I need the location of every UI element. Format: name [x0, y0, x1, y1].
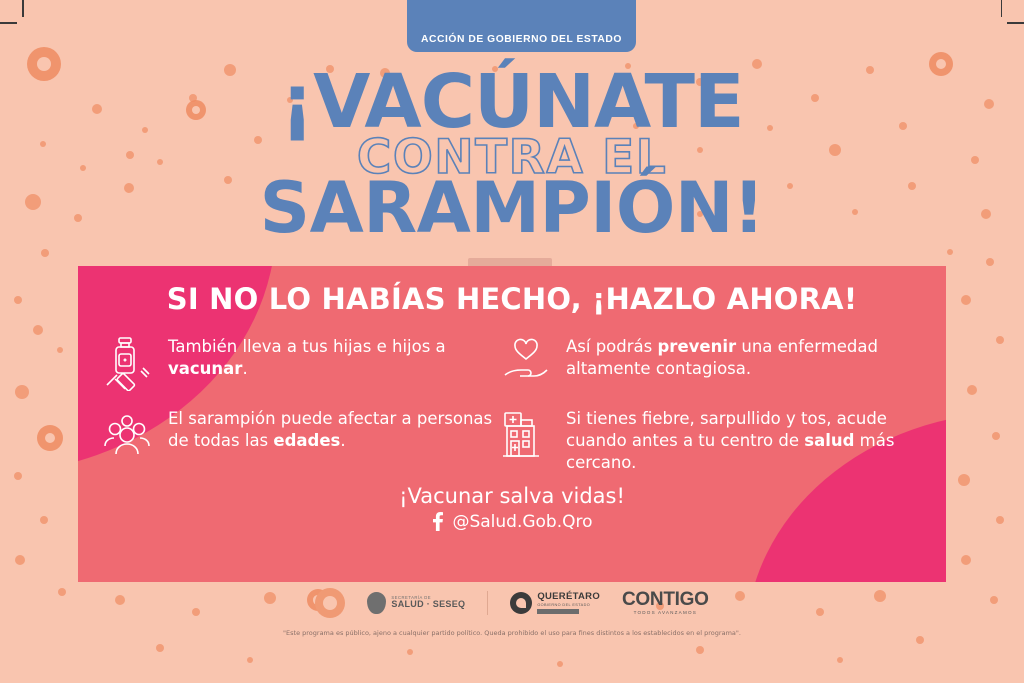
- background-spot: [407, 649, 413, 655]
- footer-logos: SECRETARÍA DE SALUD · SESEQ QUERÉTARO GO…: [0, 588, 1024, 618]
- facebook-icon[interactable]: [431, 512, 444, 531]
- queretaro-gobierno-logo: QUERÉTARO GOBIERNO DEL ESTADO: [510, 592, 600, 614]
- background-spot: [15, 555, 25, 565]
- background-spot: [967, 385, 977, 395]
- vaccine-vial-syringe-icon: [102, 334, 154, 392]
- legal-disclaimer: "Este programa es público, ajeno a cualq…: [0, 629, 1024, 637]
- qro-logo-bar: [537, 609, 579, 614]
- background-spot: [247, 657, 253, 663]
- crop-mark-top-left-h: [0, 22, 17, 24]
- call-to-action: ¡Vacunar salva vidas! @Salud.Gob.Qro: [78, 484, 946, 532]
- info-item-prevenir-text: Así podrás prevenir una enfermedad altam…: [566, 334, 946, 380]
- background-spot: [996, 516, 1004, 524]
- info-panel: SI NO LO HABÍAS HECHO, ¡HAZLO AHORA! Ta: [78, 266, 946, 582]
- background-spot: [958, 474, 970, 486]
- dot-logo: [315, 588, 345, 618]
- panel-headline: SI NO LO HABÍAS HECHO, ¡HAZLO AHORA!: [78, 282, 946, 316]
- contigo-logo-small: TODOS AVANZAMOS: [622, 611, 709, 616]
- contigo-logo: CONTIGO TODOS AVANZAMOS: [622, 590, 709, 616]
- info-item-salud-text: Si tienes fiebre, sarpullido y tos, acud…: [566, 406, 946, 474]
- background-spot: [14, 296, 22, 304]
- group-of-people-icon: [102, 406, 154, 464]
- contigo-logo-big: CONTIGO: [622, 590, 709, 610]
- social-handle[interactable]: @Salud.Gob.Qro: [452, 512, 592, 532]
- info-item-vacunar-text: También lleva a tus hijas e hijos a vacu…: [168, 334, 500, 380]
- background-spot: [40, 516, 48, 524]
- title-line-3: SARAMPIÓN!: [0, 175, 1024, 242]
- background-spot: [996, 336, 1004, 344]
- info-item-prevenir: Así podrás prevenir una enfermedad altam…: [500, 334, 946, 392]
- social-row[interactable]: @Salud.Gob.Qro: [78, 512, 946, 532]
- logo-divider: [487, 591, 488, 615]
- crop-mark-top-right-h: [1007, 22, 1024, 24]
- health-clinic-building-icon: [500, 406, 552, 464]
- crop-mark-top-left-v: [22, 0, 24, 17]
- cta-slogan: ¡Vacunar salva vidas!: [78, 484, 946, 508]
- background-spot: [156, 644, 164, 652]
- background-spot: [837, 657, 843, 663]
- info-item-edades: El sarampión puede afectar a personas de…: [102, 406, 500, 474]
- secretaria-salud-seseq-logo: SECRETARÍA DE SALUD · SESEQ: [367, 592, 465, 614]
- info-item-edades-text: El sarampión puede afectar a personas de…: [168, 406, 500, 452]
- gov-action-banner-label: ACCIÓN DE GOBIERNO DEL ESTADO: [421, 34, 622, 45]
- crop-mark-top-right-v: [1001, 0, 1003, 17]
- queretaro-q-icon: [510, 592, 532, 614]
- gov-action-banner: ACCIÓN DE GOBIERNO DEL ESTADO: [407, 0, 636, 52]
- qro-logo-small: GOBIERNO DEL ESTADO: [537, 603, 600, 607]
- title-line-1: ¡VACÚNATE: [0, 68, 1024, 136]
- background-spot: [696, 646, 704, 654]
- info-items-grid: También lleva a tus hijas e hijos a vacu…: [78, 334, 946, 474]
- heart-in-hand-icon: [500, 334, 552, 392]
- background-spot: [557, 661, 563, 667]
- background-spot: [57, 347, 63, 353]
- crest-icon: [367, 592, 386, 614]
- background-spot: [33, 325, 43, 335]
- poster-title: ¡VACÚNATE CONTRA EL SARAMPIÓN!: [0, 68, 1024, 242]
- background-spot: [961, 295, 971, 305]
- qro-logo-big: QUERÉTARO: [537, 592, 600, 602]
- background-spot: [961, 555, 971, 565]
- background-spot: [916, 636, 924, 644]
- info-item-salud: Si tienes fiebre, sarpullido y tos, acud…: [500, 406, 946, 474]
- background-spot: [15, 385, 29, 399]
- background-spot: [992, 432, 1000, 440]
- background-spot: [14, 472, 22, 480]
- info-item-vacunar: También lleva a tus hijas e hijos a vacu…: [102, 334, 500, 392]
- background-spot: [947, 249, 953, 255]
- salud-logo-big: SALUD · SESEQ: [391, 600, 465, 609]
- background-spot: [41, 249, 49, 257]
- background-spot: [986, 258, 994, 266]
